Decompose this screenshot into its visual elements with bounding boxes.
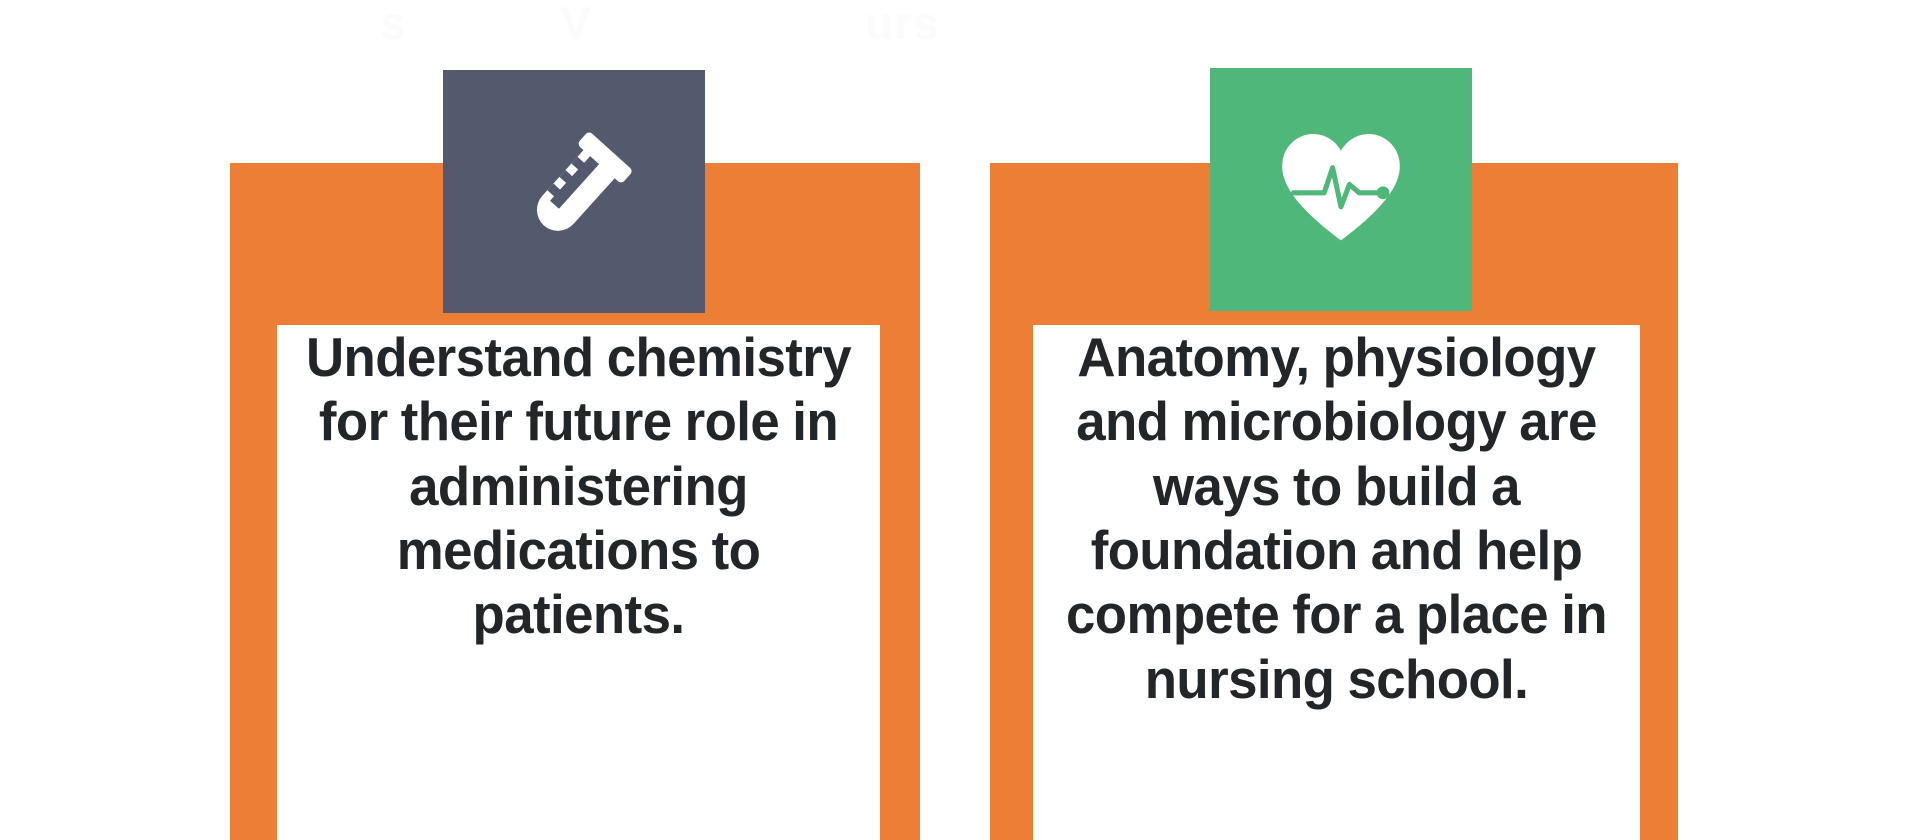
card-anatomy-text: Anatomy, physiology and microbiology are… <box>1045 325 1628 711</box>
infographic-canvas: s V urs Understand chemistry for their f… <box>0 0 1928 840</box>
card-anatomy-white-panel: Anatomy, physiology and microbiology are… <box>1033 325 1640 840</box>
top-text-remnant-2: V <box>560 0 592 46</box>
top-text-remnant-1: s <box>380 0 407 46</box>
icon-tile-anatomy <box>1210 68 1472 311</box>
card-chemistry-white-panel: Understand chemistry for their future ro… <box>277 325 880 840</box>
top-text-remnant-3: urs <box>865 0 940 46</box>
card-chemistry-text: Understand chemistry for their future ro… <box>289 325 868 647</box>
icon-tile-chemistry <box>443 70 705 313</box>
test-tube-icon <box>499 117 649 267</box>
heartbeat-icon <box>1271 120 1411 260</box>
